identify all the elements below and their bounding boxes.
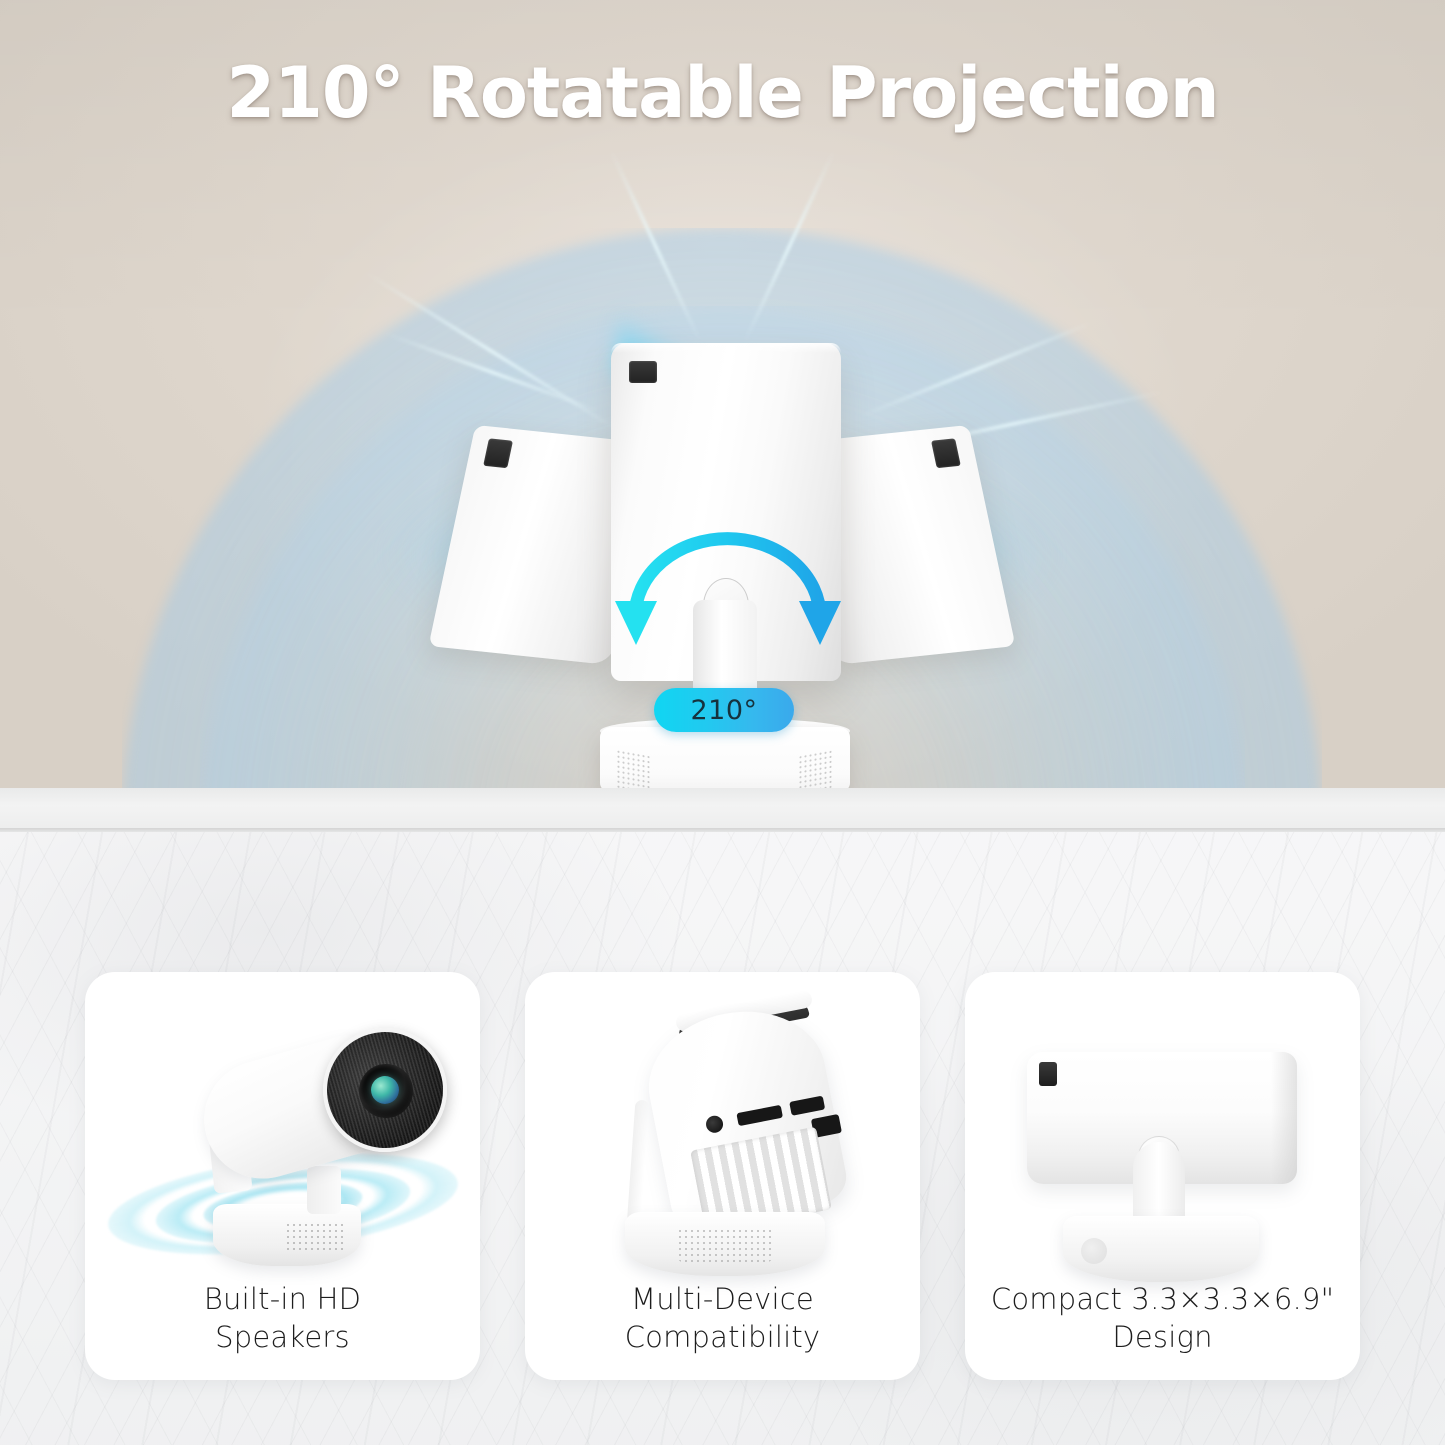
lens-glass-icon <box>371 1076 399 1104</box>
pivot-post <box>307 1166 341 1214</box>
feature-card-list: Built-in HD Speakers <box>0 972 1445 1380</box>
ir-sensor-icon <box>1039 1062 1057 1086</box>
page-title: 210° Rotatable Projection <box>0 52 1445 134</box>
feature-card-label: Built-in HD Speakers <box>188 1280 377 1357</box>
feature-card-compact-design[interactable]: Compact 3.3×3.3×6.9" Design <box>965 972 1360 1380</box>
rotation-degree-badge: 210° <box>654 688 794 732</box>
feature-card-label-line2: Design <box>991 1318 1334 1356</box>
base-detail-dot <box>1081 1238 1107 1264</box>
hdmi-port-icon <box>736 1105 783 1126</box>
features-section: Built-in HD Speakers <box>0 832 1445 1445</box>
feature-card-label-line2: Speakers <box>204 1318 361 1356</box>
projector-rear-ports-art <box>525 990 920 1280</box>
feature-card-speakers[interactable]: Built-in HD Speakers <box>85 972 480 1380</box>
projector-side-profile-art <box>965 990 1360 1280</box>
ir-sensor-icon <box>931 438 961 468</box>
speaker-grille-icon <box>285 1222 347 1252</box>
feature-card-label-line2: Compatibility <box>625 1318 821 1356</box>
feature-card-label: Compact 3.3×3.3×6.9" Design <box>975 1280 1350 1357</box>
speaker-grille-icon <box>677 1228 773 1262</box>
projector-front-with-soundwaves-art <box>85 990 480 1280</box>
table-surface <box>0 788 1445 832</box>
feature-card-label-line1: Compact 3.3×3.3×6.9" <box>991 1280 1334 1318</box>
ir-sensor-icon <box>483 438 513 468</box>
feature-card-label: Multi-Device Compatibility <box>609 1280 837 1357</box>
usb-port-icon <box>789 1096 825 1116</box>
yoke-left <box>627 1100 650 1229</box>
rotation-degree-badge-label: 210° <box>690 695 757 726</box>
feature-card-compatibility[interactable]: Multi-Device Compatibility <box>525 972 920 1380</box>
ir-sensor-icon <box>629 361 657 383</box>
feature-card-label-line1: Built-in HD <box>204 1280 361 1318</box>
dc-power-port-icon <box>705 1114 725 1134</box>
feature-card-label-line1: Multi-Device <box>625 1280 821 1318</box>
